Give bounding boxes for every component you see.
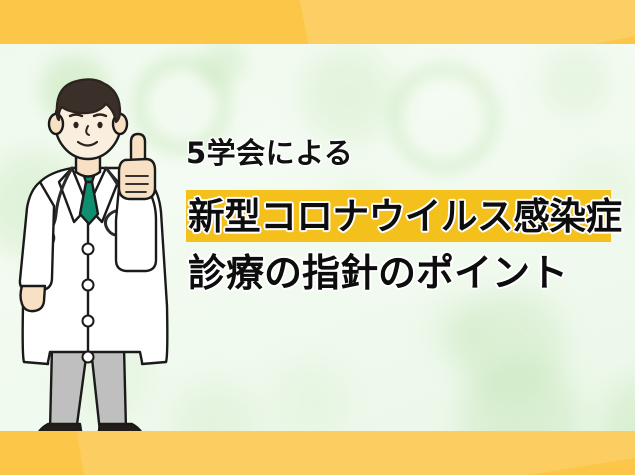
slide-canvas: 5学会による 新型コロナウイルス感染症 診療の指針のポイント [0,0,635,475]
title-line-1: 5学会による [186,136,626,171]
raised-hand [119,134,155,199]
title-block: 5学会による 新型コロナウイルス感染症 診療の指針のポイント [186,136,626,171]
bokeh-circle [540,46,610,116]
top-accent-bar [0,0,635,44]
bar-highlight-streak [292,0,635,44]
title-line-2: 新型コロナウイルス感染症 [186,198,622,235]
title-highlight-band: 新型コロナウイルス感染症 [186,190,611,242]
doctor-illustration [14,72,194,457]
left-arm [20,182,54,291]
title-line-3: 診療の指針のポイント [188,254,568,292]
bokeh-circle [270,360,350,440]
bar-highlight-streak [76,431,635,475]
bokeh-circle [300,48,396,144]
bokeh-circle [200,40,246,86]
bottom-accent-bar [0,431,635,475]
left-hand [21,286,46,311]
bokeh-circle [455,290,565,400]
